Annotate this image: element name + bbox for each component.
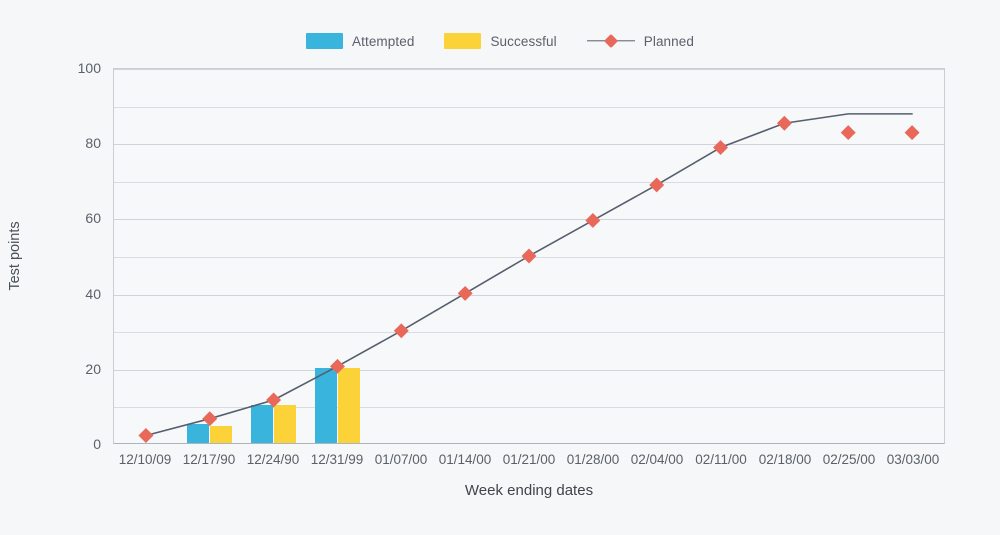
chart-legend: AttemptedSuccessfulPlanned bbox=[0, 33, 1000, 49]
gridline bbox=[114, 295, 944, 296]
y-axis-tick-label: 80 bbox=[55, 135, 101, 151]
x-axis-tick-label: 12/31/99 bbox=[311, 452, 364, 467]
legend-label: Planned bbox=[644, 34, 694, 49]
y-axis-tick-label: 40 bbox=[55, 286, 101, 302]
bar-attempted[interactable] bbox=[187, 424, 209, 443]
planned-data-point-marker[interactable] bbox=[713, 140, 728, 155]
legend-swatch-successful bbox=[444, 33, 481, 49]
gridline bbox=[114, 219, 944, 220]
y-axis-tick-label: 0 bbox=[55, 436, 101, 452]
x-axis-tick-label: 02/25/00 bbox=[823, 452, 876, 467]
gridline bbox=[114, 182, 944, 183]
gridline bbox=[114, 144, 944, 145]
planned-data-point-marker[interactable] bbox=[905, 125, 920, 140]
bar-attempted[interactable] bbox=[315, 368, 337, 443]
y-axis-tick-labels: 020406080100 bbox=[55, 68, 101, 444]
planned-data-point-marker[interactable] bbox=[841, 125, 856, 140]
x-axis-tick-label: 01/28/00 bbox=[567, 452, 620, 467]
gridline bbox=[114, 107, 944, 108]
planned-data-point-marker[interactable] bbox=[585, 213, 600, 228]
bar-successful[interactable] bbox=[274, 405, 296, 443]
x-axis-tick-label: 01/07/00 bbox=[375, 452, 428, 467]
legend-item-attempted[interactable]: Attempted bbox=[306, 33, 414, 49]
y-axis-tick-label: 20 bbox=[55, 361, 101, 377]
legend-swatch-attempted bbox=[306, 33, 343, 49]
x-axis-tick-label: 12/17/90 bbox=[183, 452, 236, 467]
x-axis-tick-label: 01/21/00 bbox=[503, 452, 556, 467]
gridline bbox=[114, 257, 944, 258]
plot-area bbox=[113, 68, 945, 444]
legend-diamond-icon bbox=[604, 34, 618, 48]
legend-item-successful[interactable]: Successful bbox=[444, 33, 556, 49]
y-axis-tick-label: 100 bbox=[55, 60, 101, 76]
x-axis-tick-labels: 12/10/0912/17/9012/24/9012/31/9901/07/00… bbox=[113, 452, 945, 474]
x-axis-tick-label: 01/14/00 bbox=[439, 452, 492, 467]
planned-data-point-marker[interactable] bbox=[649, 177, 664, 192]
planned-data-point-marker[interactable] bbox=[138, 428, 153, 443]
x-axis-tick-label: 03/03/00 bbox=[887, 452, 940, 467]
bar-attempted[interactable] bbox=[251, 405, 273, 443]
chart-container: AttemptedSuccessfulPlanned Test points 0… bbox=[0, 0, 1000, 535]
legend-line-marker-icon bbox=[587, 33, 635, 49]
y-axis-title: Test points bbox=[0, 68, 30, 444]
x-axis-tick-label: 02/18/00 bbox=[759, 452, 812, 467]
planned-data-point-marker[interactable] bbox=[458, 286, 473, 301]
planned-series-layer bbox=[114, 69, 944, 443]
x-axis-title: Week ending dates bbox=[113, 482, 945, 499]
x-axis-tick-label: 02/11/00 bbox=[695, 452, 747, 467]
planned-data-point-marker[interactable] bbox=[394, 323, 409, 338]
gridline bbox=[114, 332, 944, 333]
planned-line bbox=[146, 114, 912, 436]
legend-item-planned[interactable]: Planned bbox=[587, 33, 694, 49]
legend-label: Attempted bbox=[352, 34, 414, 49]
planned-data-point-marker[interactable] bbox=[777, 116, 792, 131]
x-axis-tick-label: 12/24/90 bbox=[247, 452, 300, 467]
x-axis-tick-label: 12/10/09 bbox=[119, 452, 172, 467]
gridline bbox=[114, 370, 944, 371]
gridline bbox=[114, 69, 944, 70]
planned-data-point-marker[interactable] bbox=[522, 249, 537, 264]
y-axis-tick-label: 60 bbox=[55, 210, 101, 226]
legend-label: Successful bbox=[490, 34, 556, 49]
bar-successful[interactable] bbox=[338, 368, 360, 443]
gridline bbox=[114, 407, 944, 408]
x-axis-tick-label: 02/04/00 bbox=[631, 452, 684, 467]
bar-successful[interactable] bbox=[210, 426, 232, 443]
